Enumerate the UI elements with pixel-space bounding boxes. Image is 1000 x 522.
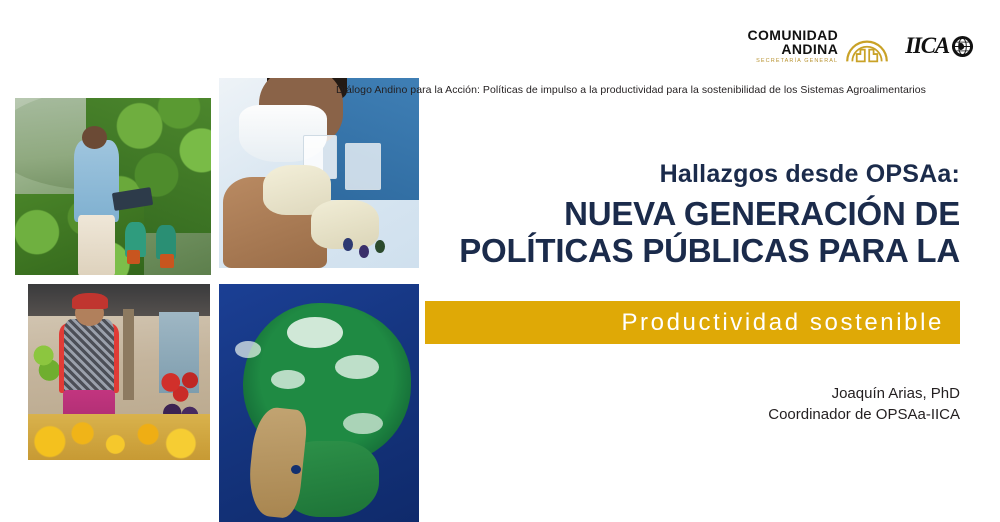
slide-eyebrow: Hallazgos desde OPSAa: [660,160,960,189]
globe-icon [951,35,974,58]
can-logo-line3: SECRETARÍA GENERAL [747,59,838,65]
author-name: Joaquín Arias, PhD [768,384,960,405]
highlight-text: Productividad sostenible [621,309,944,337]
author-role: Coordinador de OPSAa-IICA [768,405,960,426]
market-vendor-photo [28,284,210,460]
iica-logo: IICA [905,33,974,59]
comunidad-andina-logo: COMUNIDAD ANDINA SECRETARÍA GENERAL [747,28,889,65]
andean-arch-icon [845,29,889,63]
logo-bar: COMUNIDAD ANDINA SECRETARÍA GENERAL IICA [747,28,974,65]
photo-gutter-horizontal-left [0,275,211,284]
presentation-slide: COMUNIDAD ANDINA SECRETARÍA GENERAL IICA [0,0,1000,522]
event-subtitle: Diálogo Andino para la Acción: Políticas… [336,84,960,96]
iica-logo-text: IICA [905,33,949,59]
title-line-2: POLÍTICAS PÚBLICAS PARA LA [260,233,960,270]
author-block: Joaquín Arias, PhD Coordinador de OPSAa-… [768,384,960,425]
title-line-1: NUEVA GENERACIÓN DE [260,196,960,233]
can-logo-line2: ANDINA [747,42,838,56]
highlight-banner: Productividad sostenible [425,301,960,344]
satellite-south-america-photo [219,284,419,522]
page-title: NUEVA GENERACIÓN DE POLÍTICAS PÚBLICAS P… [260,196,960,270]
coffee-farmer-phone-photo [15,98,211,275]
can-logo-line1: COMUNIDAD [747,28,838,42]
photo-gutter-horizontal-right [219,268,419,284]
photo-gutter-vertical [211,78,219,522]
